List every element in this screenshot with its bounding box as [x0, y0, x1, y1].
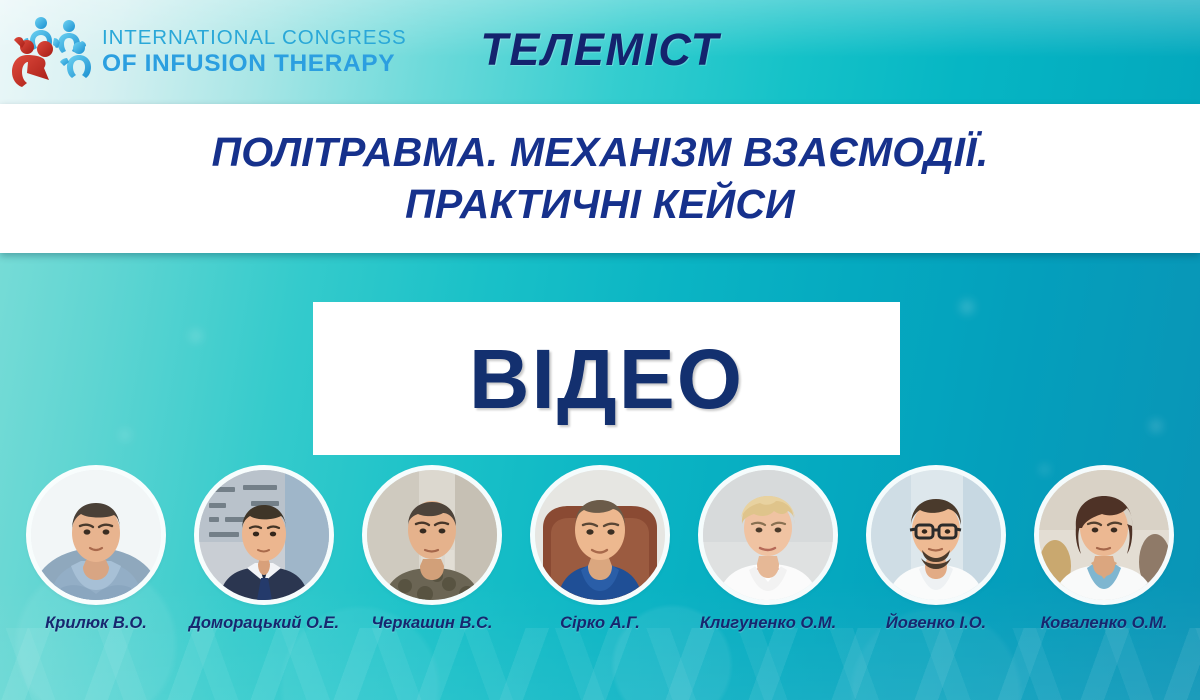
page-title-line-2: ПРАКТИЧНІ КЕЙСИ: [405, 179, 795, 231]
speaker-name: Доморацький О.Е.: [189, 614, 339, 633]
speaker-name: Йовенко І.О.: [886, 614, 986, 633]
page-title-line-1: ПОЛІТРАВМА. МЕХАНІЗМ ВЗАЄМОДІЇ.: [212, 127, 989, 179]
title-band: ПОЛІТРАВМА. МЕХАНІЗМ ВЗАЄМОДІЇ. ПРАКТИЧН…: [0, 104, 1200, 253]
speaker-name: Крилюк В.О.: [45, 614, 147, 633]
speaker-card[interactable]: Клигуненко О.М.: [684, 470, 852, 633]
portrait-sirko: [535, 470, 665, 600]
portrait-domoratskyi: [199, 470, 329, 600]
speaker-name: Черкашин В.С.: [372, 614, 493, 633]
portrait-kovalenko: [1039, 470, 1169, 600]
portrait-cherkashyn: [367, 470, 497, 600]
speaker-card[interactable]: Йовенко І.О.: [852, 470, 1020, 633]
speaker-card[interactable]: Доморацький О.Е.: [180, 470, 348, 633]
speaker-name: Коваленко О.М.: [1041, 614, 1168, 633]
portrait-yovenko: [871, 470, 1001, 600]
portrait-krylyuk: [31, 470, 161, 600]
top-bar: INTERNATIONAL CONGRESS OF INFUSION THERA…: [0, 0, 1200, 104]
speaker-card[interactable]: Сірко А.Г.: [516, 470, 684, 633]
speaker-card[interactable]: Коваленко О.М.: [1020, 470, 1188, 633]
video-label: ВІДЕО: [469, 337, 744, 421]
slide-canvas: INTERNATIONAL CONGRESS OF INFUSION THERA…: [0, 0, 1200, 700]
speaker-name: Сірко А.Г.: [560, 614, 640, 633]
speakers-row: Крилюк В.О.: [0, 470, 1200, 645]
speaker-name: Клигуненко О.М.: [700, 614, 836, 633]
video-panel[interactable]: ВІДЕО: [313, 302, 900, 455]
portrait-klyhunenko: [703, 470, 833, 600]
header-kicker: ТЕЛЕМІСТ: [0, 24, 1200, 76]
portrait-cherkashyn-card[interactable]: Черкашин В.С.: [348, 470, 516, 633]
speaker-card[interactable]: Крилюк В.О.: [12, 470, 180, 633]
